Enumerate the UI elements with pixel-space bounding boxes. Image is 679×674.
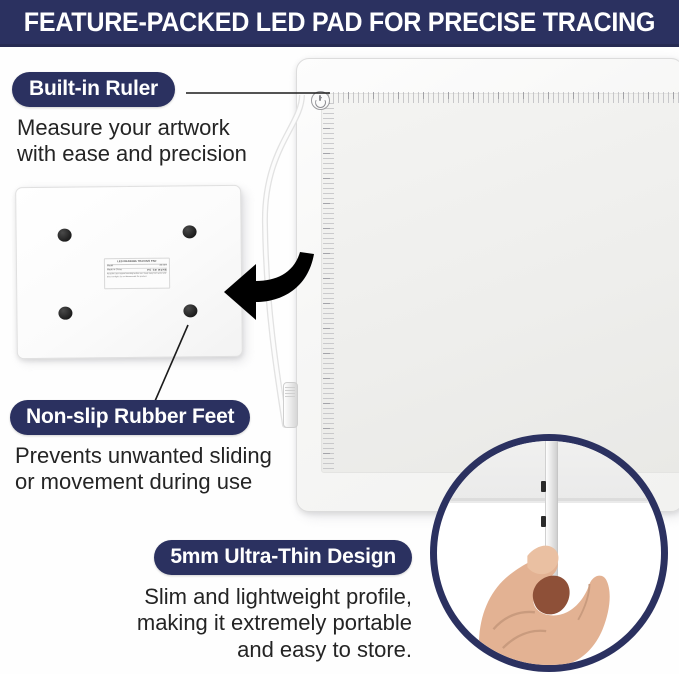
callout-badge-feet: Non-slip Rubber Feet — [10, 400, 250, 435]
led-pad-back: LED DRAWING TRACING PAD Model A4-007 Mad… — [15, 185, 243, 359]
rubber-foot — [58, 307, 72, 320]
spec-label-fine-print: Read the user manual carefully before us… — [107, 273, 167, 279]
callout-description-ruler: Measure your artwork with ease and preci… — [17, 115, 247, 168]
product-spec-label: LED DRAWING TRACING PAD Model A4-007 Mad… — [104, 258, 170, 290]
header-banner: FEATURE-PACKED LED PAD FOR PRECISE TRACI… — [0, 0, 679, 47]
ruler-major-ticks-top — [323, 92, 679, 99]
infographic-canvas: FEATURE-PACKED LED PAD FOR PRECISE TRACI… — [0, 0, 679, 674]
callout-ultra-thin: 5mm Ultra-Thin Design Slim and lightweig… — [72, 540, 412, 663]
callout-built-in-ruler: Built-in Ruler Measure your artwork with… — [12, 72, 247, 168]
rubber-foot — [58, 229, 72, 242]
spec-row-key: Model — [107, 265, 113, 268]
led-pad-lightsurface — [321, 93, 679, 473]
spec-row-value: A4-007 — [160, 265, 167, 268]
hand-illustration — [437, 441, 661, 665]
usb-connector — [283, 382, 298, 428]
certification-marks: FC CE RoHS — [147, 269, 167, 272]
callout-badge-thin: 5mm Ultra-Thin Design — [154, 540, 412, 575]
curved-arrow-icon — [222, 248, 318, 332]
callout-rubber-feet: Non-slip Rubber Feet Prevents unwanted s… — [10, 400, 272, 496]
rubber-foot — [183, 225, 197, 238]
callout-description-feet: Prevents unwanted sliding or movement du… — [15, 443, 272, 496]
spec-row-key: Made in China — [107, 269, 122, 272]
rubber-foot — [183, 304, 197, 317]
callout-badge-ruler: Built-in Ruler — [12, 72, 175, 107]
callout-description-thin: Slim and lightweight profile, making it … — [72, 584, 412, 663]
page-title: FEATURE-PACKED LED PAD FOR PRECISE TRACI… — [24, 7, 655, 38]
thickness-inset-photo — [430, 434, 668, 672]
